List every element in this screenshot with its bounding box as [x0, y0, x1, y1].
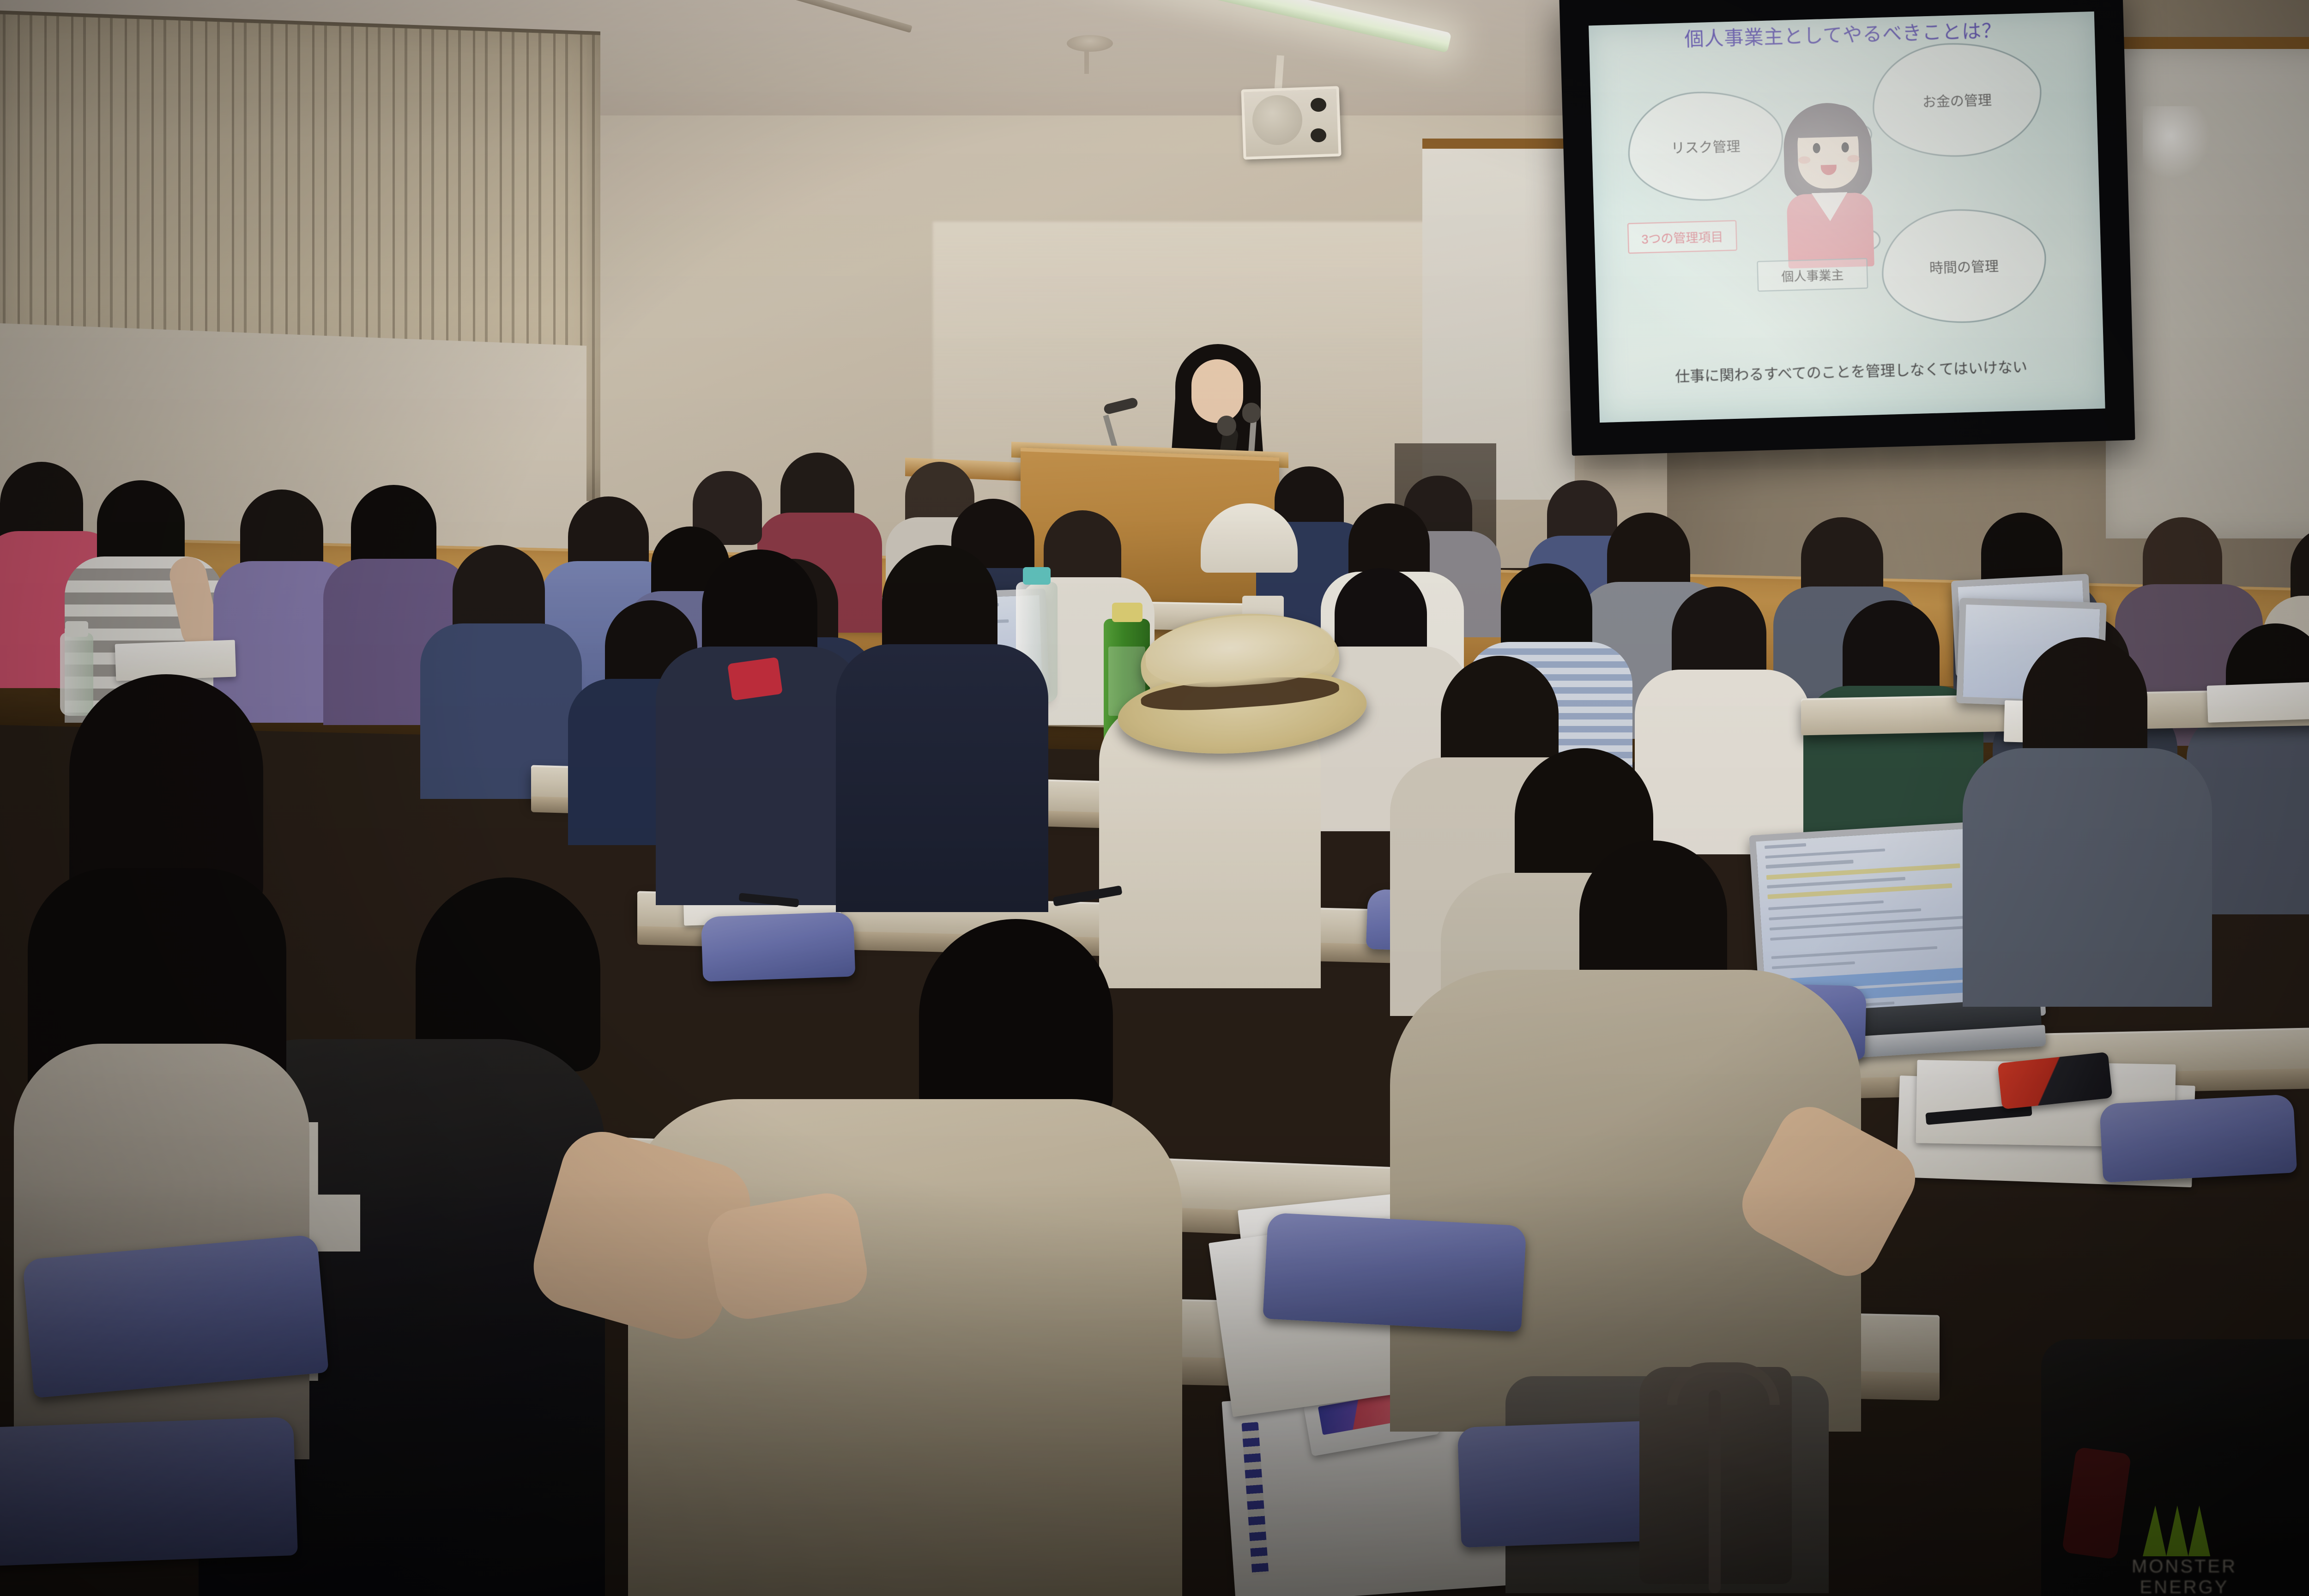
whiteboard-glare: [2143, 106, 2212, 180]
projection-screen: 個人事業主としてやるべきことは？ リスク管理 お金の管理 時間の管理 3つの管理…: [1559, 0, 2135, 456]
lecture-room-photo: 個人事業主としてやるべきことは？ リスク管理 お金の管理 時間の管理 3つの管理…: [0, 0, 2309, 1596]
chair[interactable]: [701, 912, 856, 981]
chair[interactable]: [2099, 1094, 2297, 1183]
attendee-head: [919, 919, 1113, 1122]
chair[interactable]: [1263, 1213, 1526, 1332]
attendee-body: [1963, 748, 2212, 1007]
backpack-brand-label: MONSTER ENERGY: [2106, 1556, 2263, 1577]
thought-bubble-time: 時間の管理: [1880, 207, 2048, 325]
microphone-head: [1242, 403, 1261, 423]
ceiling-fixture-stem: [1084, 50, 1089, 74]
slide-tag-sole-proprietor: 個人事業主: [1757, 258, 1868, 292]
bubble-label-risk: リスク管理: [1671, 135, 1741, 157]
umbrella-shaft: [1709, 1390, 1721, 1593]
speaker-knob: [1311, 98, 1326, 112]
speaker-cone: [1252, 95, 1302, 145]
water-bottle[interactable]: [60, 633, 93, 716]
thought-bubble-money: お金の管理: [1871, 41, 2043, 159]
ceiling-fixture: [1067, 35, 1113, 52]
bottle-cap: [1023, 567, 1051, 585]
slide-caption: 仕事に関わるすべてのことを管理しなくてはいけない: [1612, 353, 2091, 388]
bottle-cap: [65, 621, 88, 637]
attendee-body: [1635, 670, 1810, 854]
bottle-cap: [1112, 603, 1142, 622]
thought-bubble-risk: リスク管理: [1626, 90, 1784, 203]
bubble-label-money: お金の管理: [1922, 89, 1992, 111]
projected-slide: 個人事業主としてやるべきことは？ リスク管理 お金の管理 時間の管理 3つの管理…: [1589, 12, 2105, 423]
slide-title: 個人事業主としてやるべきことは？: [1607, 13, 2079, 54]
presenter-face: [1191, 359, 1243, 423]
slide-tag-three-items: 3つの管理項目: [1627, 220, 1737, 254]
avatar-fringe: [1793, 104, 1863, 138]
speaker-knob: [1311, 128, 1326, 142]
chair[interactable]: [0, 1417, 298, 1566]
handout-papers[interactable]: [2207, 681, 2309, 723]
bubble-label-time: 時間の管理: [1929, 255, 1999, 277]
chair[interactable]: [22, 1234, 329, 1398]
red-phone[interactable]: [727, 657, 783, 701]
handheld-microphone-head: [1217, 416, 1236, 436]
attendee-body: [836, 644, 1048, 912]
